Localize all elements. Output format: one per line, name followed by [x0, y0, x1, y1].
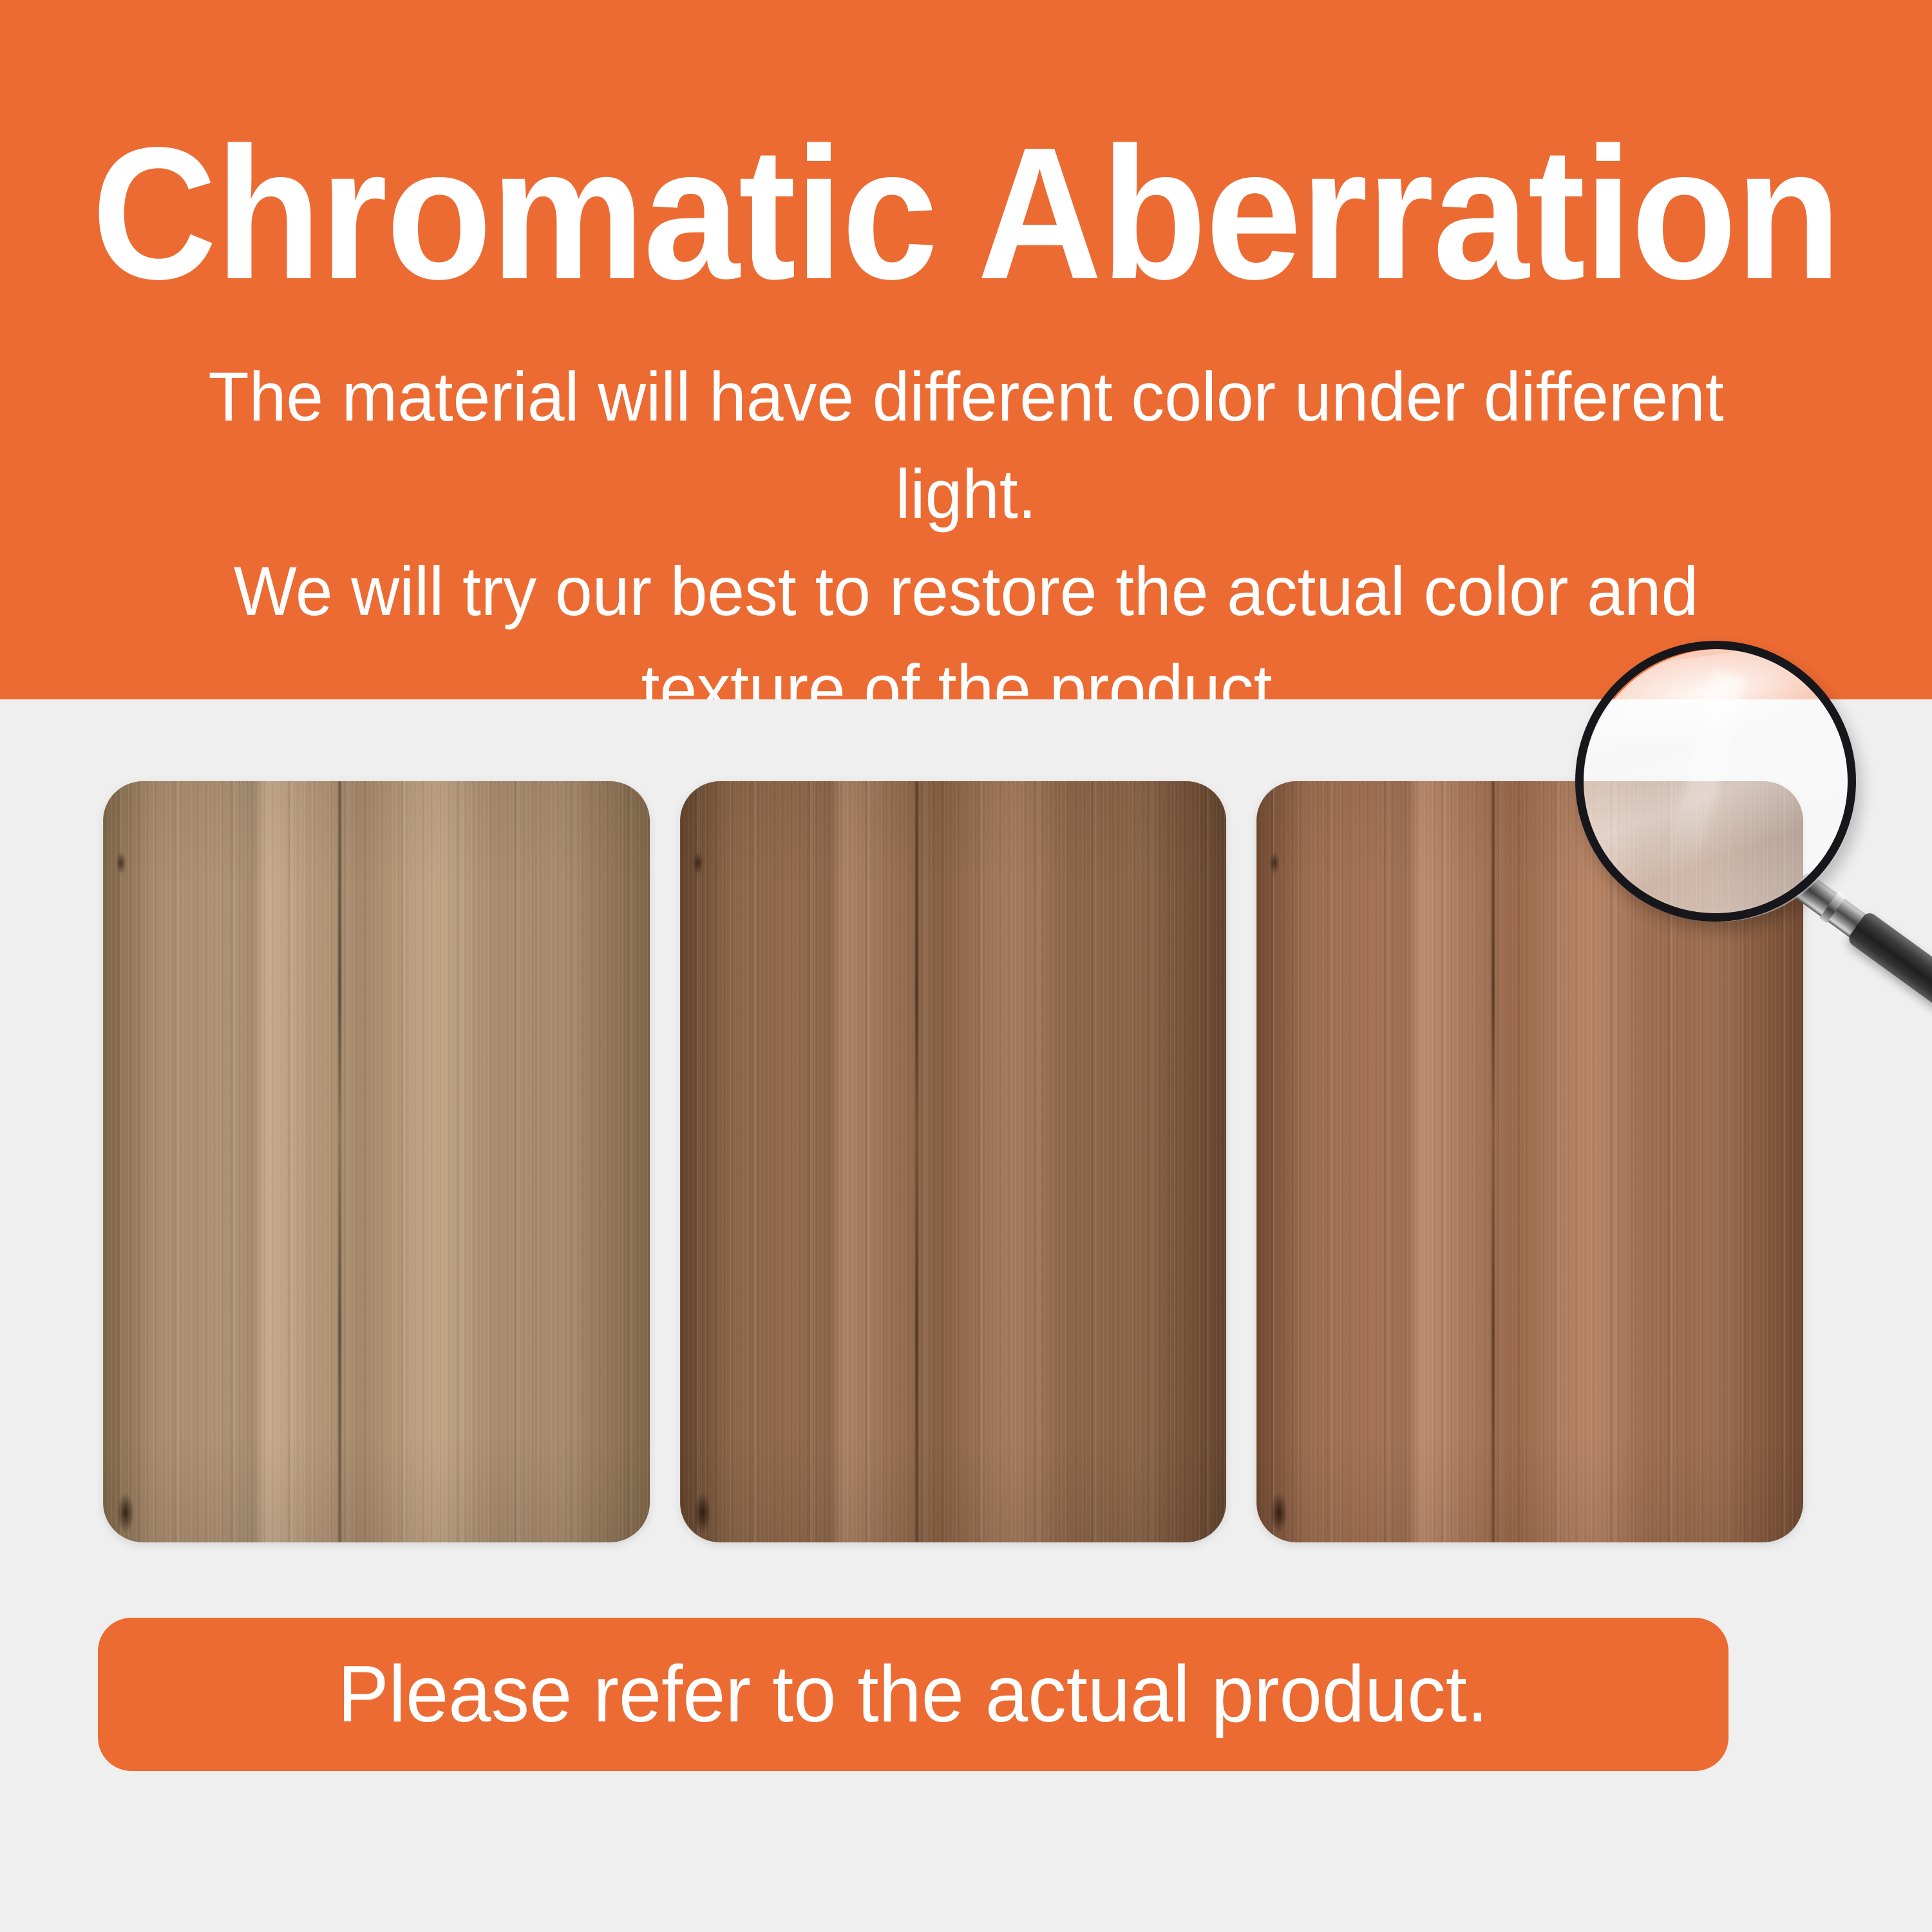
wood-swatch-warm-chestnut[interactable]	[1256, 781, 1803, 1542]
swatch-row	[103, 781, 1803, 1542]
banner-subtitle: The material will have different color u…	[103, 348, 1829, 699]
wood-swatch-medium-walnut[interactable]	[680, 781, 1227, 1542]
refer-to-actual-product-label: Please refer to the actual product.	[338, 1654, 1489, 1734]
subtitle-line-3: texture of the product.	[138, 640, 1795, 699]
header-banner: Chromatic Aberration The material will h…	[0, 0, 1932, 699]
wood-vignette	[680, 781, 1227, 1542]
subtitle-line-1: The material will have different color u…	[138, 348, 1795, 542]
page-title: Chromatic Aberration	[77, 119, 1855, 307]
refer-to-actual-product-button[interactable]: Please refer to the actual product.	[98, 1618, 1728, 1771]
subtitle-line-2: We will try our best to restore the actu…	[138, 542, 1795, 639]
promo-banner-page: Chromatic Aberration The material will h…	[0, 0, 1932, 1932]
wood-vignette	[1256, 781, 1803, 1542]
wood-vignette	[103, 781, 650, 1542]
magnifier-handle	[1788, 868, 1932, 1012]
wood-swatch-light-oak[interactable]	[103, 781, 650, 1542]
magnifier-grip	[1846, 910, 1932, 1013]
